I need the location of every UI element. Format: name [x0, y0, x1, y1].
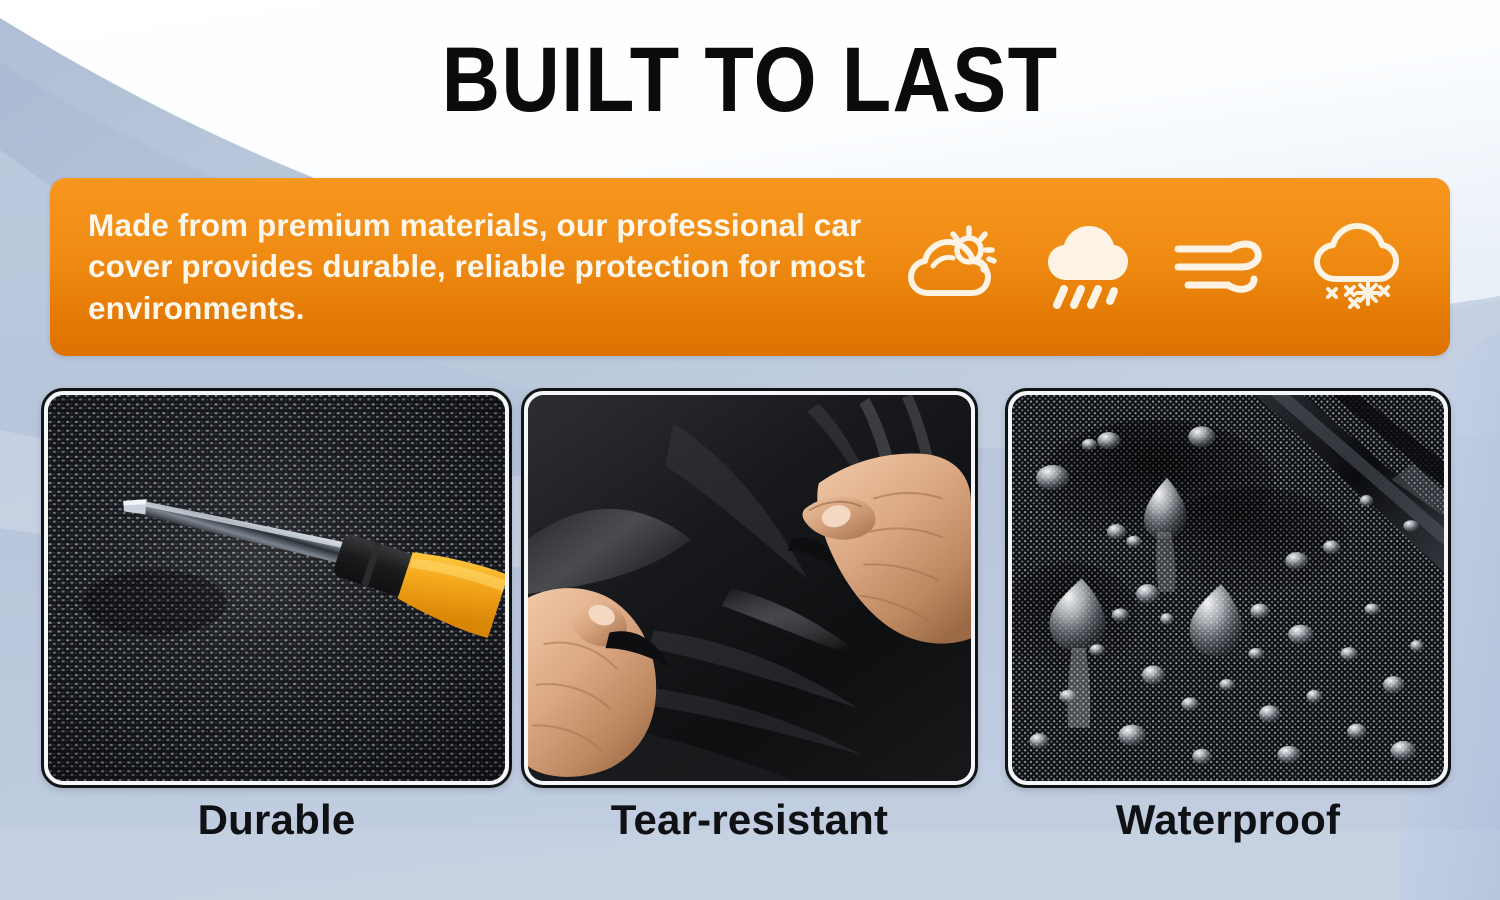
feature-card-waterproof[interactable]	[1005, 388, 1451, 788]
page-title: BUILT TO LAST	[90, 34, 1410, 126]
weather-icon-group	[906, 223, 1416, 311]
wind-icon	[1172, 229, 1268, 305]
hands-stretching-black-material-photo	[528, 395, 971, 781]
promo-banner-text: Made from premium materials, our profess…	[88, 205, 906, 330]
sun-behind-cloud-icon	[906, 225, 1002, 309]
feature-card-row	[0, 388, 1500, 788]
feature-caption-durable: Durable	[41, 796, 512, 844]
snow-cloud-icon	[1310, 223, 1402, 311]
promo-banner: Made from premium materials, our profess…	[50, 178, 1450, 356]
water-beading-on-fabric-photo	[1012, 395, 1444, 781]
photo-artwork-tear-resistant	[528, 395, 971, 781]
feature-card-tear-resistant[interactable]	[521, 388, 978, 788]
woven-fabric-with-screwdriver-photo	[48, 395, 505, 781]
rain-cloud-icon	[1044, 225, 1130, 309]
photo-artwork-durable	[48, 395, 505, 781]
feature-caption-tear-resistant: Tear-resistant	[521, 796, 978, 844]
photo-artwork-waterproof	[1012, 395, 1444, 781]
feature-caption-waterproof: Waterproof	[1005, 796, 1451, 844]
feature-card-durable[interactable]	[41, 388, 512, 788]
feature-caption-row: Durable Tear-resistant Waterproof	[0, 796, 1500, 862]
infographic-canvas: BUILT TO LAST Made from premium material…	[0, 0, 1500, 900]
